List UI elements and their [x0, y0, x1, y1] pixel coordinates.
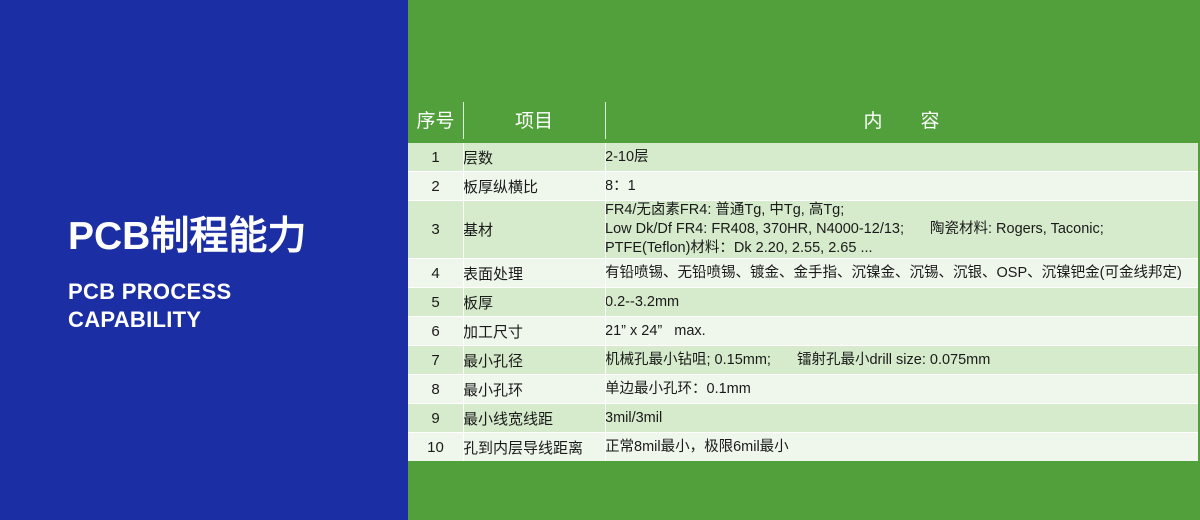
content-line-2: Low Dk/Df FR4: FR408, 370HR, N4000-12/13… [605, 220, 1198, 239]
table-row: 1 层数 2-10层 [408, 143, 1198, 172]
table-row: 5 板厚 0.2--3.2mm [408, 288, 1198, 317]
cell-no: 1 [408, 143, 463, 172]
page-subtitle-line-2: CAPABILITY [68, 306, 398, 334]
cell-item: 加工尺寸 [463, 317, 605, 346]
cell-item: 板厚纵横比 [463, 172, 605, 201]
table-row: 7 最小孔径 机械孔最小钻咀; 0.15mm;镭射孔最小drill size: … [408, 346, 1198, 375]
content-part-a: 21” x 24” [605, 323, 662, 339]
cell-item: 最小孔径 [463, 346, 605, 375]
cell-no: 10 [408, 433, 463, 462]
table-header: 序号 项目 内 容 [408, 96, 1198, 143]
cell-item: 表面处理 [463, 259, 605, 288]
content-line-2a: Low Dk/Df FR4: FR408, 370HR, N4000-12/13… [605, 221, 904, 237]
cell-content: 正常8mil最小，极限6mil最小 [605, 433, 1198, 462]
content-part-a: 机械孔最小钻咀; 0.15mm; [605, 352, 771, 368]
cell-no: 4 [408, 259, 463, 288]
cell-content: 3mil/3mil [605, 404, 1198, 433]
cell-no: 5 [408, 288, 463, 317]
cell-item: 板厚 [463, 288, 605, 317]
cell-item: 孔到内层导线距离 [463, 433, 605, 462]
cell-item: 最小线宽线距 [463, 404, 605, 433]
cell-item: 最小孔环 [463, 375, 605, 404]
cell-no: 7 [408, 346, 463, 375]
page-subtitle-line-1: PCB PROCESS [68, 278, 398, 306]
cell-no: 8 [408, 375, 463, 404]
cell-content: 机械孔最小钻咀; 0.15mm;镭射孔最小drill size: 0.075mm [605, 346, 1198, 375]
content-line-1: FR4/无卤素FR4: 普通Tg, 中Tg, 高Tg; [605, 201, 1198, 220]
cell-no: 6 [408, 317, 463, 346]
cell-content: 有铅喷锡、无铅喷锡、镀金、金手指、沉镍金、沉锡、沉银、OSP、沉镍钯金(可金线邦… [605, 259, 1198, 288]
page-title-chinese: PCB制程能力 [68, 214, 398, 260]
table-row: 3 基材 FR4/无卤素FR4: 普通Tg, 中Tg, 高Tg; Low Dk/… [408, 201, 1198, 259]
table-header-row: 序号 项目 内 容 [408, 96, 1198, 143]
column-header-no: 序号 [408, 96, 463, 143]
cell-content: FR4/无卤素FR4: 普通Tg, 中Tg, 高Tg; Low Dk/Df FR… [605, 201, 1198, 259]
cell-content: 单边最小孔环：0.1mm [605, 375, 1198, 404]
table-row: 10 孔到内层导线距离 正常8mil最小，极限6mil最小 [408, 433, 1198, 462]
table-row: 2 板厚纵横比 8：1 [408, 172, 1198, 201]
pcb-capability-table: 序号 项目 内 容 1 层数 2-10层 2 板厚纵横比 8：1 3 基材 FR… [408, 96, 1198, 461]
cell-no: 9 [408, 404, 463, 433]
page-subtitle-english: PCB PROCESS CAPABILITY [68, 278, 398, 334]
title-block: PCB制程能力 PCB PROCESS CAPABILITY [68, 214, 398, 334]
column-header-content: 内 容 [605, 96, 1198, 143]
left-blue-panel: PCB制程能力 PCB PROCESS CAPABILITY [0, 0, 408, 520]
cell-item: 层数 [463, 143, 605, 172]
table-row: 9 最小线宽线距 3mil/3mil [408, 404, 1198, 433]
slide-root: PCB制程能力 PCB PROCESS CAPABILITY 序号 项目 内 容… [0, 0, 1200, 520]
cell-no: 3 [408, 201, 463, 259]
table-body: 1 层数 2-10层 2 板厚纵横比 8：1 3 基材 FR4/无卤素FR4: … [408, 143, 1198, 461]
cell-no: 2 [408, 172, 463, 201]
table-row: 8 最小孔环 单边最小孔环：0.1mm [408, 375, 1198, 404]
table-row: 4 表面处理 有铅喷锡、无铅喷锡、镀金、金手指、沉镍金、沉锡、沉银、OSP、沉镍… [408, 259, 1198, 288]
cell-item: 基材 [463, 201, 605, 259]
cell-content: 2-10层 [605, 143, 1198, 172]
content-line-3: PTFE(Teflon)材料：Dk 2.20, 2.55, 2.65 ... [605, 239, 1198, 258]
table-row: 6 加工尺寸 21” x 24”max. [408, 317, 1198, 346]
content-line-2b: 陶瓷材料: Rogers, Taconic; [930, 221, 1104, 237]
cell-content: 21” x 24”max. [605, 317, 1198, 346]
cell-content: 0.2--3.2mm [605, 288, 1198, 317]
cell-content: 8：1 [605, 172, 1198, 201]
column-header-item: 项目 [463, 96, 605, 143]
content-part-b: max. [674, 323, 705, 339]
content-part-b: 镭射孔最小drill size: 0.075mm [797, 352, 990, 368]
